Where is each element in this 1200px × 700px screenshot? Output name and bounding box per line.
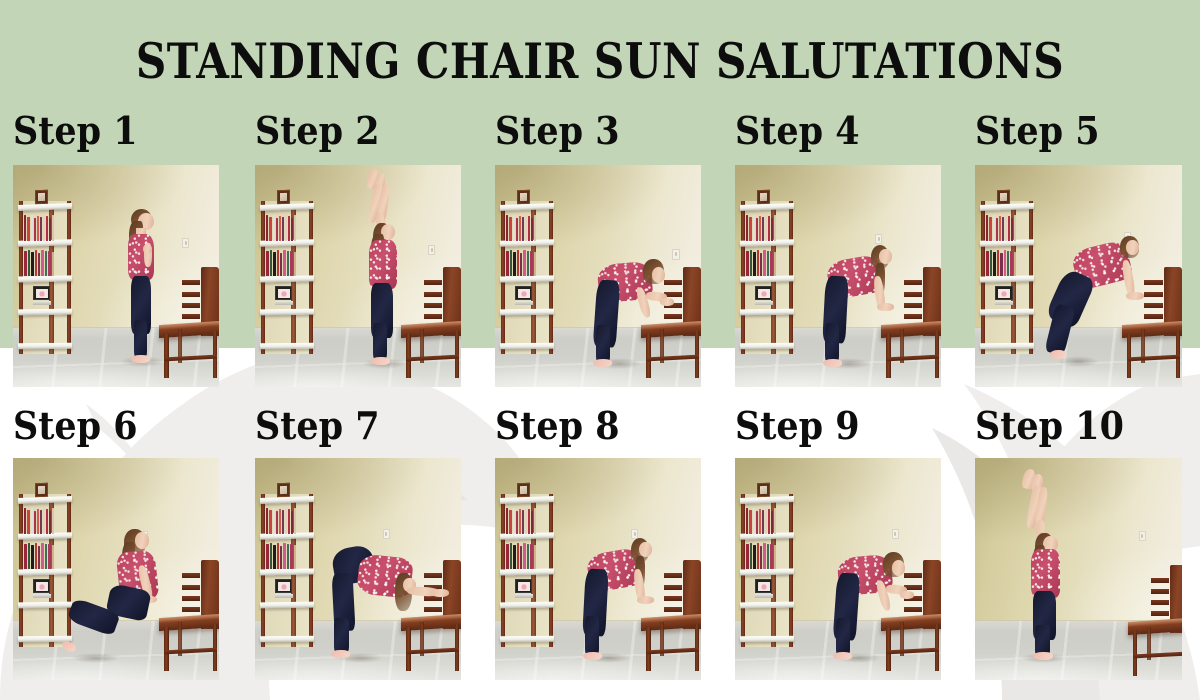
person-step-3 [495,165,701,387]
page-title: STANDING CHAIR SUN SALUTATIONS [84,30,1116,92]
step-6-photo [13,458,219,680]
poster-canvas: STANDING CHAIR SUN SALUTATIONS Step 1 [0,0,1200,700]
person-step-8 [495,458,701,680]
person-step-4 [735,165,941,387]
step-label-2: Step 2 [255,108,380,154]
person-step-9 [735,458,941,680]
step-3-photo [495,165,701,387]
step-7-photo [255,458,461,680]
step-label-4: Step 4 [735,108,860,154]
step-10-photo [975,458,1182,680]
person-step-2 [255,165,461,387]
person-step-10 [975,458,1182,680]
person-step-1 [13,165,219,387]
step-8-photo [495,458,701,680]
step-label-9: Step 9 [735,403,860,449]
step-label-8: Step 8 [495,403,620,449]
person-step-5 [975,165,1182,387]
step-label-1: Step 1 [13,108,138,154]
person-step-7 [255,458,461,680]
step-label-6: Step 6 [13,403,138,449]
step-label-5: Step 5 [975,108,1100,154]
person-step-6 [13,458,219,680]
step-4-photo [735,165,941,387]
step-label-7: Step 7 [255,403,380,449]
step-label-3: Step 3 [495,108,620,154]
step-9-photo [735,458,941,680]
step-5-photo [975,165,1182,387]
step-2-photo [255,165,461,387]
step-label-10: Step 10 [975,403,1124,449]
step-1-photo [13,165,219,387]
